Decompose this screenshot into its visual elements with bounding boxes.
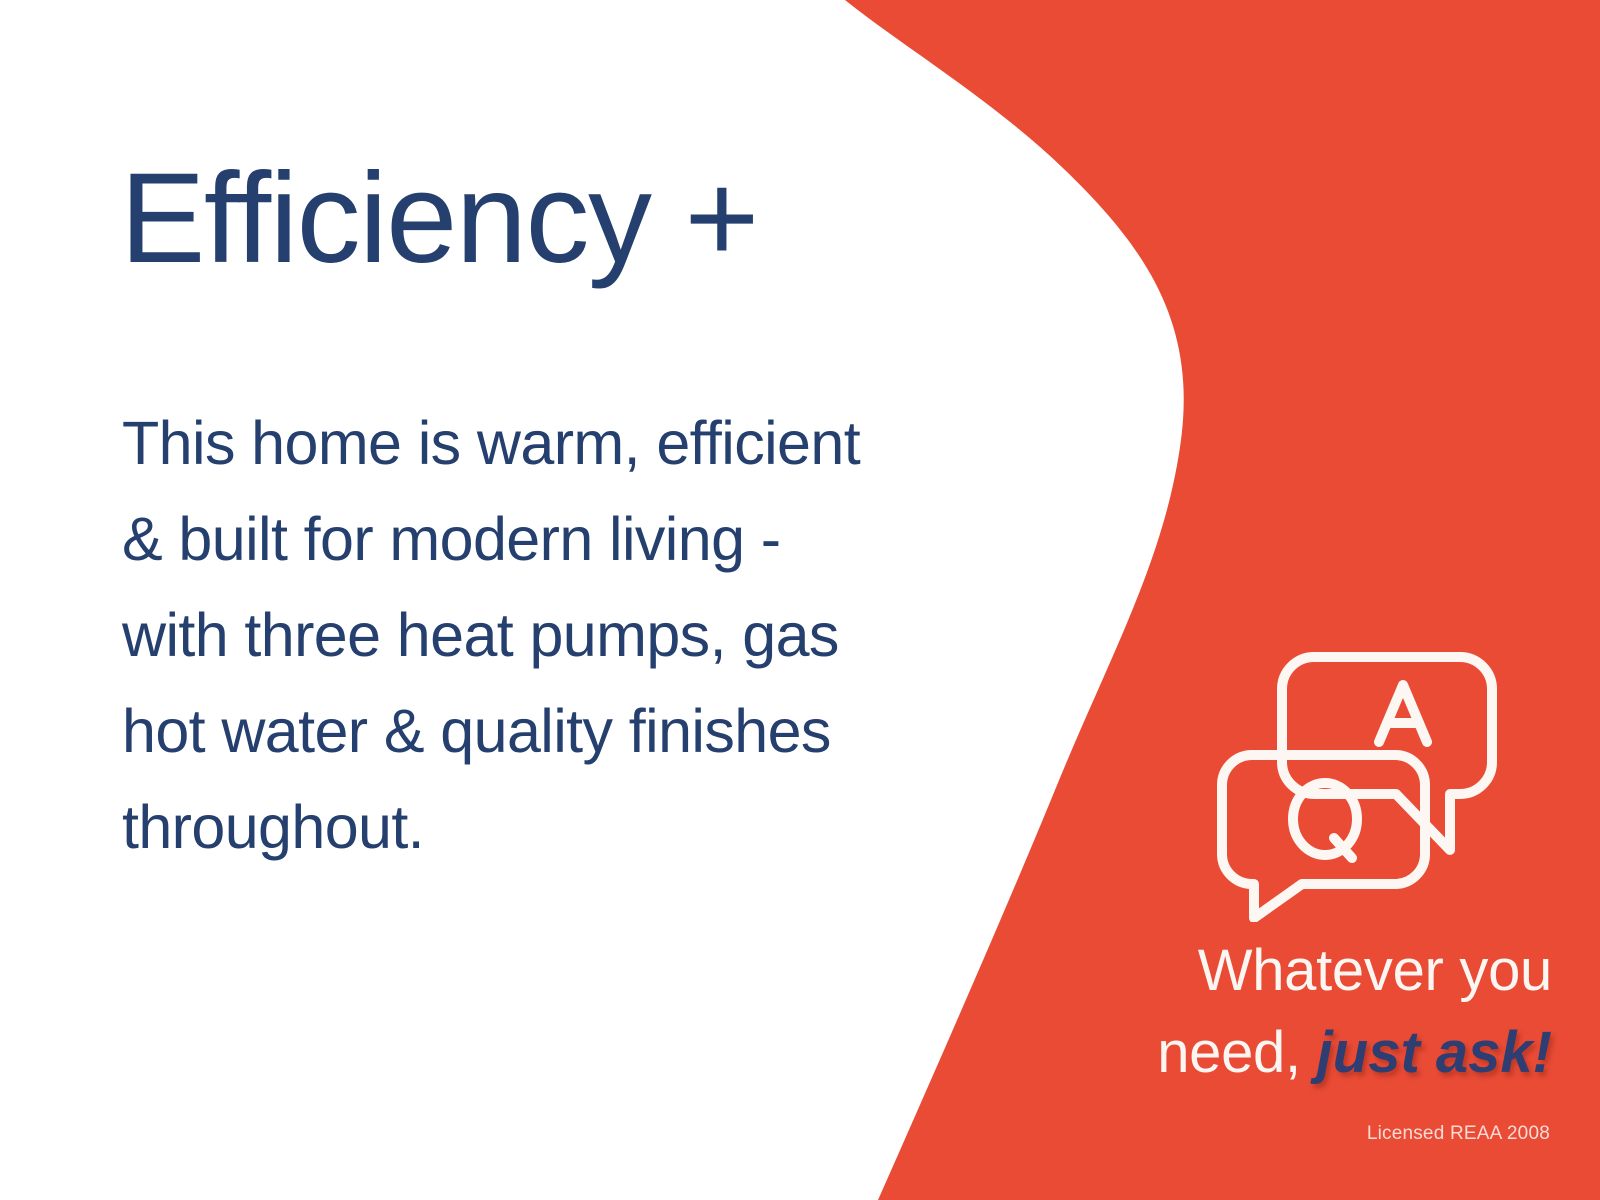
- tagline-line-2: need, just ask!: [1020, 1012, 1552, 1094]
- tagline-plain: need,: [1157, 1020, 1301, 1085]
- tagline: Whatever you need, just ask!: [1020, 930, 1552, 1094]
- body-copy: This home is warm, efficient & built for…: [122, 395, 952, 875]
- page-title: Efficiency +: [120, 155, 758, 283]
- body-line-5: throughout.: [122, 779, 952, 875]
- right-content-column: Whatever you need, just ask! Licensed RE…: [1020, 0, 1600, 1200]
- qa-speech-bubbles-icon: [1210, 622, 1500, 922]
- body-line-1: This home is warm, efficient: [122, 395, 952, 491]
- promo-card: Efficiency + This home is warm, efficien…: [0, 0, 1600, 1200]
- icon-letter-a: [1379, 685, 1427, 742]
- body-line-2: & built for modern living -: [122, 491, 952, 587]
- tagline-emphasis: just ask!: [1317, 1020, 1552, 1085]
- body-line-4: hot water & quality finishes: [122, 683, 952, 779]
- left-content-column: Efficiency + This home is warm, efficien…: [120, 0, 940, 1200]
- body-line-3: with three heat pumps, gas: [122, 587, 952, 683]
- tagline-line-1: Whatever you: [1020, 930, 1552, 1012]
- licence-text: Licensed REAA 2008: [1367, 1122, 1550, 1146]
